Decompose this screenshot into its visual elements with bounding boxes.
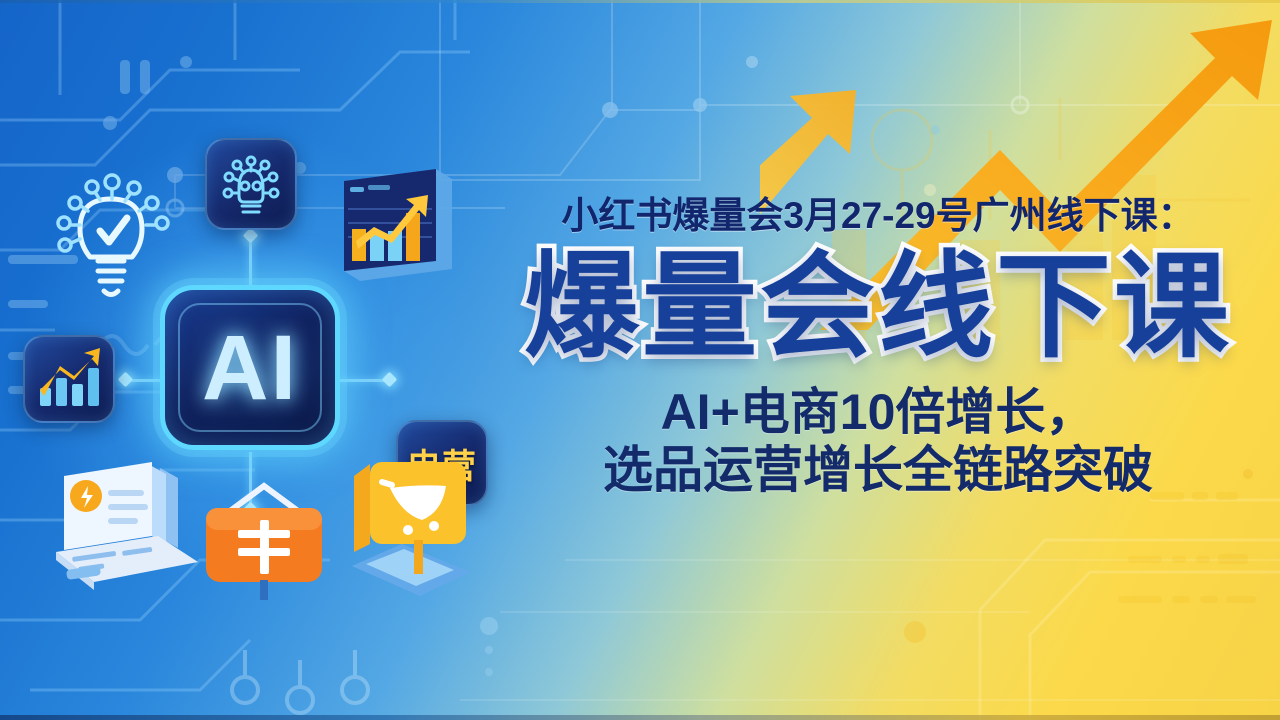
lightbulb-brain-glyph xyxy=(48,165,178,310)
headline: 小红书爆量会3月27-29号广州线下课： xyxy=(498,196,1258,237)
bottom-edge-band xyxy=(0,715,1280,720)
growth-bar-chart-icon xyxy=(23,335,115,423)
top-edge-band xyxy=(0,0,1280,3)
connector-node-left xyxy=(118,372,134,388)
growth-bar-chart-glyph xyxy=(34,346,104,412)
shopping-cart-sign-icon xyxy=(330,452,480,602)
connector-line-top xyxy=(249,236,252,286)
shopping-cart-glyph xyxy=(330,452,480,602)
promo-banner: AI xyxy=(0,0,1280,720)
robot-face-glyph xyxy=(215,148,287,220)
ai-chip-inner-ring xyxy=(178,303,322,432)
lightbulb-brain-check-icon xyxy=(48,165,178,310)
subtitle-line-2: 选品运营增长全链路突破 xyxy=(498,441,1258,499)
ai-chip-icon: AI xyxy=(160,285,340,450)
robot-face-icon xyxy=(205,138,297,230)
banner-text-block: 小红书爆量会3月27-29号广州线下课： 爆量会线下课 AI+电商10倍增长， … xyxy=(498,196,1258,499)
hanging-sign-glyph xyxy=(192,482,337,602)
laptop-document-icon xyxy=(48,458,203,598)
hanging-sign-icon xyxy=(192,482,337,602)
connector-line-right xyxy=(338,379,388,382)
dashboard-chart-glyph xyxy=(330,165,460,290)
connector-node-right xyxy=(382,372,398,388)
ai-icon-cluster: AI xyxy=(0,90,500,650)
dashboard-chart-icon xyxy=(330,165,460,290)
page-title: 爆量会线下课 xyxy=(498,243,1258,372)
subtitle-line-1: AI+电商10倍增长， xyxy=(498,383,1258,441)
connector-node-top xyxy=(243,228,259,244)
laptop-glyph xyxy=(48,458,203,598)
